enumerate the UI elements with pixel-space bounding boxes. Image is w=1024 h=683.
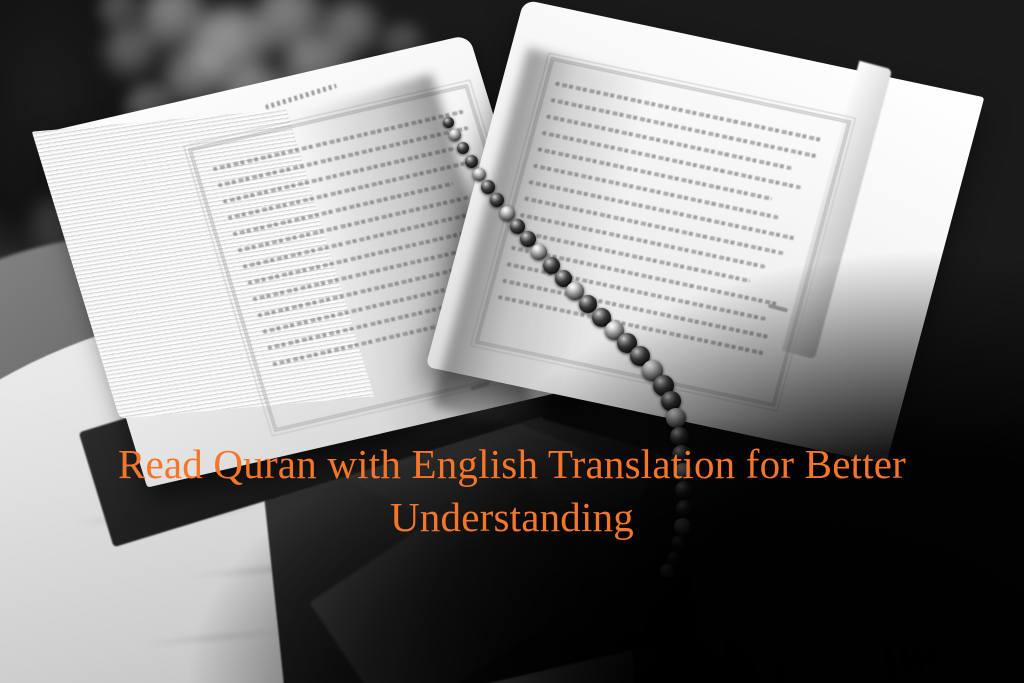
headline-line-2: Understanding: [64, 491, 960, 544]
headline-overlay: Read Quran with English Translation for …: [0, 438, 1024, 545]
background-dark-vignette: [0, 0, 1024, 683]
photo-background: [0, 0, 1024, 683]
image-canvas: Read Quran with English Translation for …: [0, 0, 1024, 683]
headline-line-1: Read Quran with English Translation for …: [64, 438, 960, 491]
